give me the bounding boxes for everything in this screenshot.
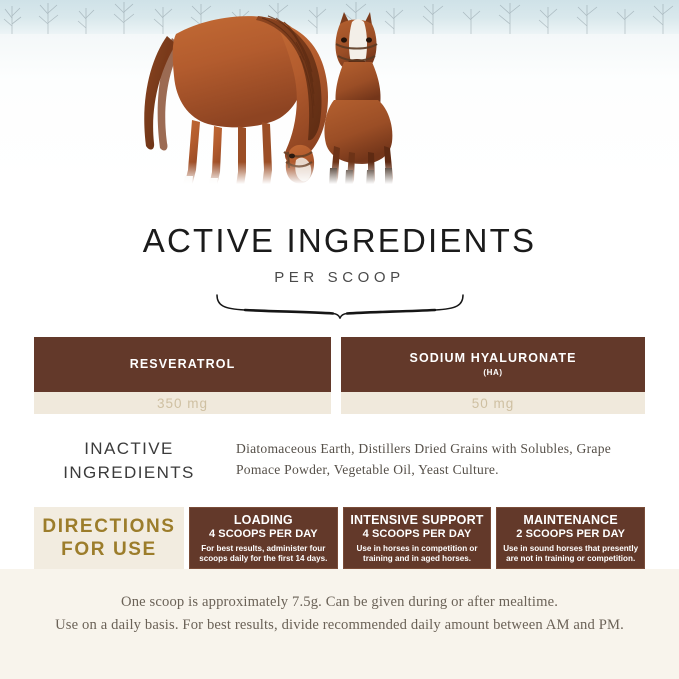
- active-ingredient-header: SODIUM HYALURONATE (HA): [341, 337, 645, 392]
- hero-bottom-fade: [0, 162, 679, 188]
- directions-box-detail-line1: Use in horses in competition or: [357, 544, 478, 554]
- active-ingredient-cell: SODIUM HYALURONATE (HA) 50 mg: [341, 337, 645, 414]
- footer-line-1: One scoop is approximately 7.5g. Can be …: [121, 591, 558, 614]
- title-block: ACTIVE INGREDIENTS PER SCOOP: [0, 188, 679, 319]
- directions-box-detail-line1: Use in sound horses that presently: [503, 544, 638, 554]
- inactive-ingredients-text: Diatomaceous Earth, Distillers Dried Gra…: [224, 436, 645, 481]
- directions-for-use-section: DIRECTIONS FOR USE LOADING 4 SCOOPS PER …: [34, 507, 645, 569]
- hero-image: [0, 0, 679, 188]
- active-ingredient-amount: 350 mg: [34, 392, 331, 414]
- directions-box-dose: 4 SCOOPS PER DAY: [209, 528, 318, 541]
- directions-box-detail-line2: scoops daily for the first 14 days.: [199, 554, 327, 564]
- directions-box-detail-line2: training and in aged horses.: [363, 554, 471, 564]
- directions-box-heading: LOADING: [234, 513, 293, 527]
- inactive-ingredients-label: INACTIVE INGREDIENTS: [34, 436, 224, 485]
- supplement-label-card: ACTIVE INGREDIENTS PER SCOOP RESVERATROL…: [0, 0, 679, 679]
- page-title: ACTIVE INGREDIENTS: [0, 224, 679, 257]
- active-ingredient-header: RESVERATROL: [34, 337, 331, 392]
- page-subtitle: PER SCOOP: [0, 270, 679, 285]
- footer-notes: One scoop is approximately 7.5g. Can be …: [0, 569, 679, 679]
- active-ingredient-name: SODIUM HYALURONATE: [410, 352, 577, 366]
- directions-box-intensive-support: INTENSIVE SUPPORT 4 SCOOPS PER DAY Use i…: [343, 507, 492, 569]
- foal: [324, 12, 393, 186]
- active-ingredients-table: RESVERATROL 350 mg SODIUM HYALURONATE (H…: [34, 337, 645, 414]
- active-ingredient-abbreviation: (HA): [483, 369, 502, 377]
- directions-box-dose: 4 SCOOPS PER DAY: [363, 528, 472, 541]
- active-ingredient-name: RESVERATROL: [130, 358, 236, 372]
- inactive-label-line2: INGREDIENTS: [34, 461, 224, 485]
- active-ingredient-cell: RESVERATROL 350 mg: [34, 337, 331, 414]
- active-ingredient-amount: 50 mg: [341, 392, 645, 414]
- directions-box-heading: INTENSIVE SUPPORT: [350, 513, 483, 527]
- inactive-label-line1: INACTIVE: [34, 437, 224, 461]
- directions-title-line1: DIRECTIONS: [42, 515, 175, 538]
- directions-box-heading: MAINTENANCE: [523, 513, 618, 527]
- decorative-brace-icon: [215, 293, 465, 319]
- mare-and-foal-illustration: [0, 0, 679, 188]
- directions-box-dose: 2 SCOOPS PER DAY: [516, 528, 625, 541]
- directions-box-maintenance: MAINTENANCE 2 SCOOPS PER DAY Use in soun…: [496, 507, 645, 569]
- directions-box-detail-line1: For best results, administer four: [201, 544, 325, 554]
- directions-title-line2: FOR USE: [61, 538, 157, 561]
- directions-box-detail-line2: are not in training or competition.: [506, 554, 635, 564]
- directions-title: DIRECTIONS FOR USE: [34, 507, 184, 569]
- inactive-ingredients-section: INACTIVE INGREDIENTS Diatomaceous Earth,…: [34, 436, 645, 485]
- directions-box-loading: LOADING 4 SCOOPS PER DAY For best result…: [189, 507, 338, 569]
- footer-line-2: Use on a daily basis. For best results, …: [55, 614, 624, 637]
- mare: [144, 16, 328, 186]
